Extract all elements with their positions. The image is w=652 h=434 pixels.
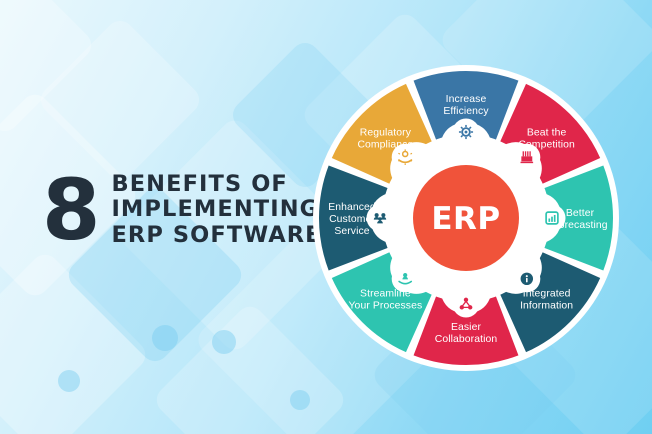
icon-badge-easier-collaboration <box>453 291 480 318</box>
bg-dot <box>290 390 310 410</box>
title-line-1: BENEFITS OF <box>111 172 321 198</box>
bg-dot <box>212 330 236 354</box>
erp-benefits-wheel: IncreaseEfficiencyBeat theCompetitionBet… <box>310 62 622 374</box>
bg-dot <box>152 325 178 351</box>
segment-label-increase-efficiency: IncreaseEfficiency <box>443 94 489 117</box>
gear-icon <box>459 125 473 139</box>
title-line-2: IMPLEMENTING <box>111 197 321 223</box>
center-label: ERP <box>431 201 500 237</box>
benefit-count: 8 <box>42 168 97 252</box>
page-title: BENEFITS OF IMPLEMENTING ERP SOFTWARE <box>111 172 321 249</box>
info-icon <box>521 273 533 285</box>
bg-dot <box>58 370 80 392</box>
title-line-3: ERP SOFTWARE <box>111 223 321 249</box>
poster-canvas: 8 BENEFITS OF IMPLEMENTING ERP SOFTWARE … <box>0 0 652 434</box>
wheel-svg: IncreaseEfficiencyBeat theCompetitionBet… <box>310 62 622 374</box>
headline-block: 8 BENEFITS OF IMPLEMENTING ERP SOFTWARE <box>42 168 322 252</box>
